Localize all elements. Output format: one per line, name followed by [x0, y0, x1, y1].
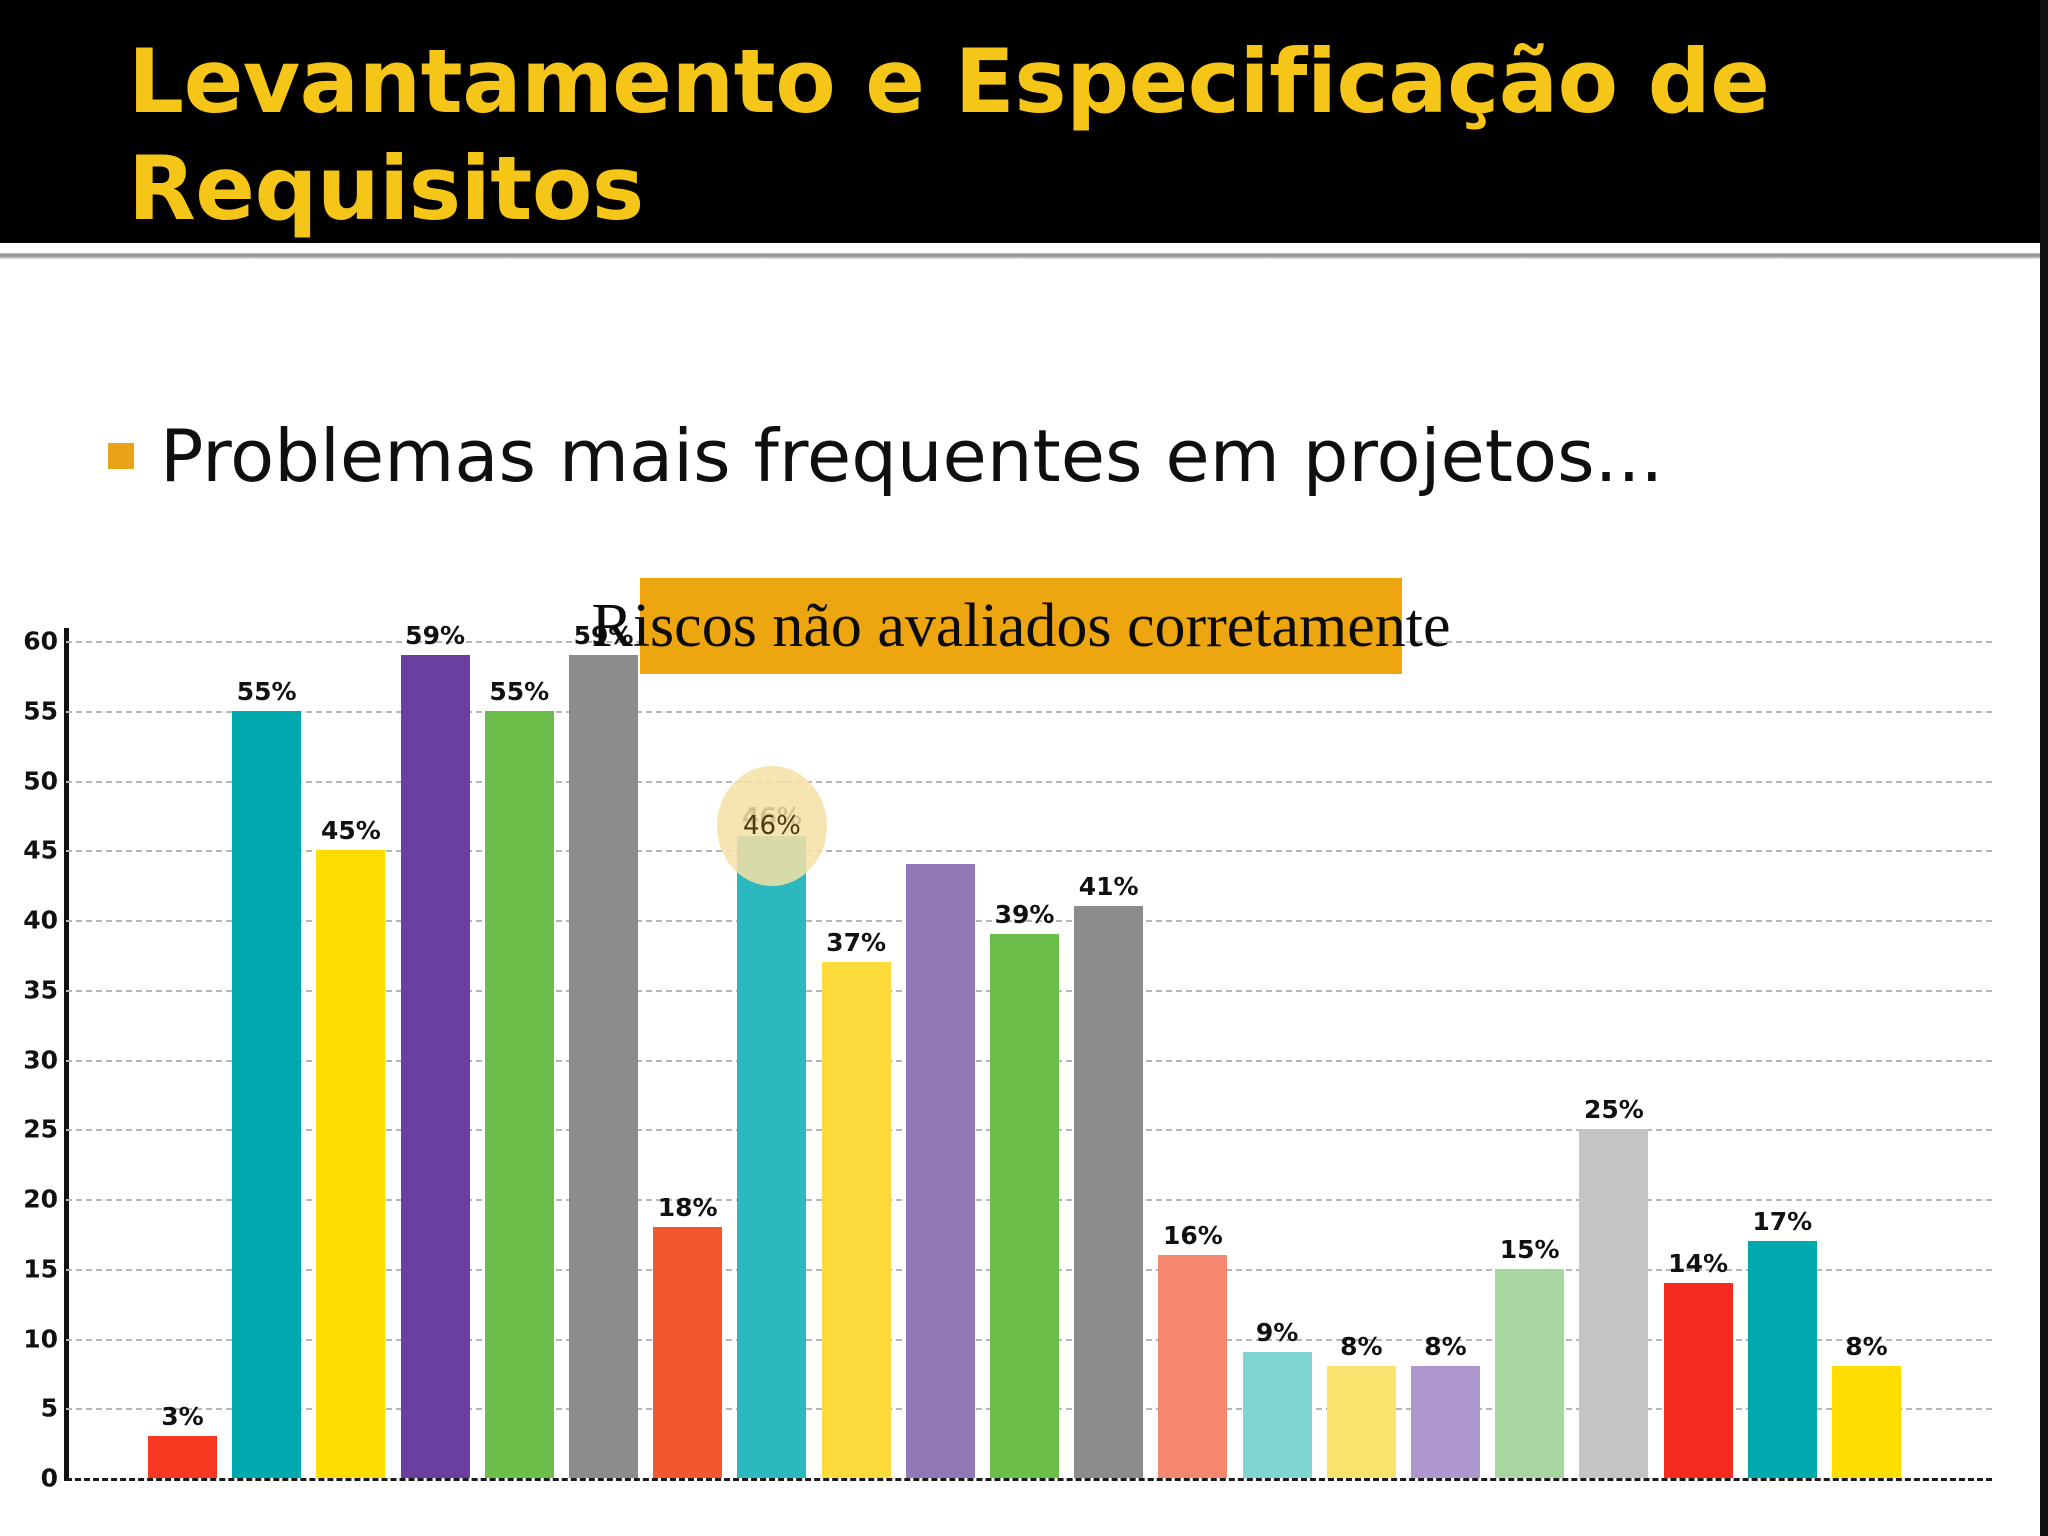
- bullet-square-icon: [108, 443, 134, 469]
- chart-bar: [316, 850, 385, 1478]
- chart-bar-value-label: 8%: [1340, 1332, 1382, 1361]
- chart-bar-value-label: 45%: [321, 816, 381, 845]
- chart-bar-value-label: 8%: [1424, 1332, 1466, 1361]
- chart-bar: [401, 655, 470, 1478]
- chart-bar: [1327, 1366, 1396, 1478]
- chart-bar: [990, 934, 1059, 1478]
- y-axis-tick-label: 20: [0, 1185, 58, 1214]
- y-axis-tick-label: 35: [0, 975, 58, 1004]
- chart-bar: [1579, 1129, 1648, 1478]
- y-axis-tick-label: 40: [0, 906, 58, 935]
- chart-bar: [1495, 1269, 1564, 1478]
- title-band: Levantamento e Especificação de Requisit…: [0, 0, 2048, 243]
- chart-bar-value-label: 25%: [1584, 1095, 1644, 1124]
- chart-bar: [1664, 1283, 1733, 1478]
- y-axis-tick-label: 55: [0, 696, 58, 725]
- y-axis-tick-label: 15: [0, 1254, 58, 1283]
- chart-bar: [737, 836, 806, 1478]
- presentation-slide: Levantamento e Especificação de Requisit…: [0, 0, 2048, 1536]
- chart-bar: [1748, 1241, 1817, 1478]
- callout-text: Riscos não avaliados corretamente: [591, 595, 1450, 657]
- chart-bar: [1074, 906, 1143, 1478]
- chart-bar-value-label: 55%: [237, 677, 297, 706]
- chart-bar: [569, 655, 638, 1478]
- y-axis-line: [64, 628, 69, 1481]
- bullet-item-label: Problemas mais frequentes em projetos...: [160, 420, 1663, 492]
- y-axis-tick-label: 5: [0, 1394, 58, 1423]
- chart-bar: [232, 711, 301, 1478]
- chart-bar-value-label: 3%: [161, 1402, 203, 1431]
- chart-bar-value-label: 16%: [1163, 1221, 1223, 1250]
- chart-bar-value-label: 9%: [1256, 1318, 1298, 1347]
- chart-bar: [1243, 1352, 1312, 1478]
- chart-bar: [148, 1436, 217, 1478]
- chart-plot-area: 605550454035302520151050 3%55%45%59%55%5…: [0, 580, 2048, 1536]
- gridline: [66, 711, 1992, 713]
- chart-bar: [1832, 1366, 1901, 1478]
- chart-bar: [906, 864, 975, 1478]
- y-axis-tick-label: 0: [0, 1464, 58, 1493]
- y-axis-tick-label: 60: [0, 627, 58, 656]
- callout-box: Riscos não avaliados corretamente: [640, 578, 1402, 674]
- bullet-item: Problemas mais frequentes em projetos...: [108, 420, 1663, 492]
- title-divider: [0, 253, 2048, 259]
- chart-bar-value-label: 8%: [1845, 1332, 1887, 1361]
- chart-bar: [1158, 1255, 1227, 1478]
- chart-bar-value-label: 14%: [1668, 1249, 1728, 1278]
- y-axis-tick-label: 30: [0, 1045, 58, 1074]
- highlight-value-label: 46%: [743, 811, 801, 841]
- chart-bar: [822, 962, 891, 1478]
- chart-bar-value-label: 37%: [826, 928, 886, 957]
- y-axis-tick-label: 10: [0, 1324, 58, 1353]
- chart-bar-value-label: 55%: [489, 677, 549, 706]
- gridline: [66, 1478, 1992, 1481]
- chart-bar: [653, 1227, 722, 1478]
- chart-bar-value-label: 15%: [1500, 1235, 1560, 1264]
- gridline: [66, 781, 1992, 783]
- chart-bar: [1411, 1366, 1480, 1478]
- y-axis-tick-label: 50: [0, 766, 58, 795]
- chart-bar-value-label: 59%: [405, 621, 465, 650]
- chart-bar: [485, 711, 554, 1478]
- chart-bar-value-label: 39%: [995, 900, 1055, 929]
- chart-bar-value-label: 18%: [658, 1193, 718, 1222]
- y-axis-tick-label: 45: [0, 836, 58, 865]
- chart-bar-value-label: 17%: [1752, 1207, 1812, 1236]
- bar-chart: 605550454035302520151050 3%55%45%59%55%5…: [0, 580, 2048, 1536]
- page-title: Levantamento e Especificação de Requisit…: [128, 28, 1888, 243]
- y-axis-tick-label: 25: [0, 1115, 58, 1144]
- chart-bar-value-label: 41%: [1079, 872, 1139, 901]
